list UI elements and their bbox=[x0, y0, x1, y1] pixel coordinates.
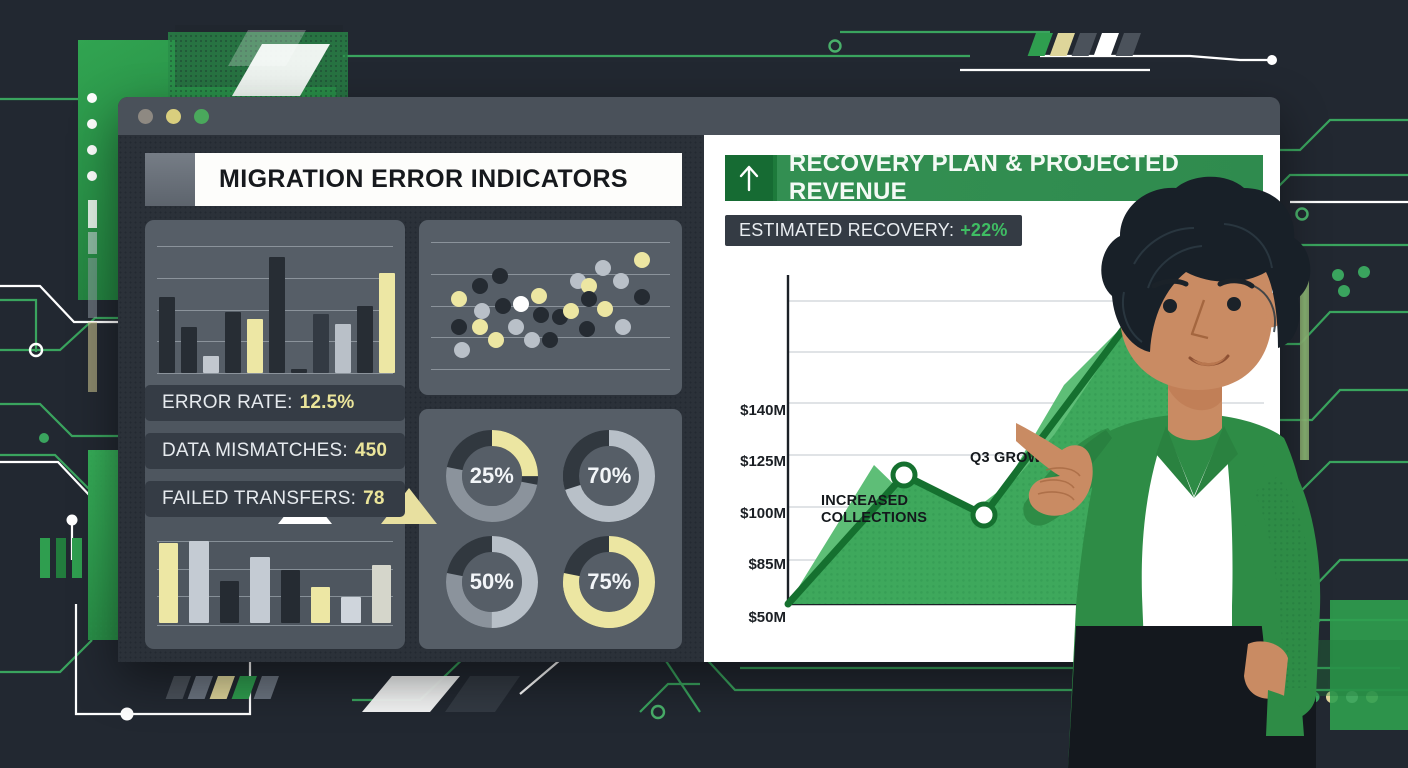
scatter-point bbox=[513, 296, 529, 312]
donut-label: 25% bbox=[470, 463, 514, 489]
scatter-point bbox=[472, 278, 488, 294]
donut-gauges[interactable]: 25%70%50%75% bbox=[419, 409, 682, 649]
annotation-line-1: INCREASED bbox=[821, 493, 927, 510]
stat-value: 12.5% bbox=[300, 392, 355, 414]
error-stats-list: ERROR RATE: 12.5% DATA MISMATCHES: 450 F… bbox=[145, 385, 405, 529]
scatter-point bbox=[595, 260, 611, 276]
bar bbox=[159, 297, 175, 373]
scatter-point bbox=[495, 298, 511, 314]
scatter-point bbox=[613, 273, 629, 289]
bar bbox=[181, 327, 197, 373]
left-panel-header: MIGRATION ERROR INDICATORS bbox=[145, 153, 682, 206]
scatter-point bbox=[488, 332, 504, 348]
scatter-point bbox=[563, 303, 579, 319]
scatter-point bbox=[474, 303, 490, 319]
scatter-chart[interactable] bbox=[419, 220, 682, 395]
bar bbox=[269, 257, 285, 373]
header-accent-tab bbox=[145, 153, 195, 206]
scatter-point bbox=[615, 319, 631, 335]
scatter-point bbox=[508, 319, 524, 335]
scatter-point bbox=[454, 342, 470, 358]
window-maximize-dot[interactable] bbox=[194, 109, 209, 124]
donut-gauge[interactable]: 25% bbox=[433, 423, 551, 529]
stat-value: 78 bbox=[363, 488, 385, 510]
bar bbox=[225, 312, 241, 373]
donut-gauge[interactable]: 75% bbox=[551, 529, 669, 635]
scatter-point bbox=[533, 307, 549, 323]
scatter-point bbox=[579, 321, 595, 337]
bar bbox=[313, 314, 329, 373]
infographic-canvas: MIGRATION ERROR INDICATORS bbox=[0, 0, 1408, 768]
bar bbox=[281, 570, 300, 623]
bar bbox=[372, 565, 391, 623]
secondary-bar-series bbox=[159, 543, 391, 623]
donut-gauge[interactable]: 70% bbox=[551, 423, 669, 529]
ytick-label: $140M bbox=[716, 402, 786, 419]
ytick-label: $50M bbox=[716, 609, 786, 626]
bar bbox=[203, 356, 219, 373]
scatter-point bbox=[472, 319, 488, 335]
bar bbox=[379, 273, 395, 373]
bar bbox=[220, 581, 239, 623]
stat-label: FAILED TRANSFERS: bbox=[162, 488, 356, 510]
ytick-label: $100M bbox=[716, 505, 786, 522]
migration-error-panel: MIGRATION ERROR INDICATORS bbox=[118, 135, 704, 662]
bar bbox=[311, 587, 330, 623]
scatter-point bbox=[581, 291, 597, 307]
page-title: MIGRATION ERROR INDICATORS bbox=[195, 153, 682, 206]
donut-label: 70% bbox=[587, 463, 631, 489]
donut-gauge[interactable]: 50% bbox=[433, 529, 551, 635]
decorative-dark-notch bbox=[175, 25, 343, 87]
scatter-point bbox=[597, 301, 613, 317]
donut-label: 75% bbox=[587, 569, 631, 595]
bar bbox=[189, 541, 208, 623]
scatter-points bbox=[419, 220, 682, 395]
stat-label: DATA MISMATCHES: bbox=[162, 440, 348, 462]
presenter-illustration bbox=[1016, 176, 1408, 768]
bar bbox=[250, 557, 269, 623]
stat-label: ERROR RATE: bbox=[162, 392, 293, 414]
stat-data-mismatches[interactable]: DATA MISMATCHES: 450 bbox=[145, 433, 405, 469]
window-titlebar bbox=[118, 97, 1280, 135]
bar bbox=[291, 369, 307, 373]
scatter-point bbox=[451, 291, 467, 307]
stat-error-rate[interactable]: ERROR RATE: 12.5% bbox=[145, 385, 405, 421]
ytick-label: $125M bbox=[716, 453, 786, 470]
scatter-point bbox=[542, 332, 558, 348]
ytick-label: $85M bbox=[716, 556, 786, 573]
donut-label: 50% bbox=[470, 569, 514, 595]
stat-value: 450 bbox=[355, 440, 387, 462]
window-minimize-dot[interactable] bbox=[166, 109, 181, 124]
scatter-point bbox=[634, 252, 650, 268]
annotation-line-2: COLLECTIONS bbox=[821, 510, 927, 527]
bar bbox=[357, 306, 373, 373]
scatter-point bbox=[634, 289, 650, 305]
annotation-increased-collections: INCREASED COLLECTIONS bbox=[821, 493, 927, 526]
bar bbox=[247, 319, 263, 373]
scatter-point bbox=[451, 319, 467, 335]
scatter-point bbox=[524, 332, 540, 348]
scatter-point bbox=[531, 288, 547, 304]
bar-series bbox=[159, 251, 395, 373]
bar bbox=[335, 324, 351, 373]
bar bbox=[159, 543, 178, 623]
error-bar-chart[interactable] bbox=[145, 220, 405, 395]
bar bbox=[341, 597, 360, 623]
stat-failed-transfers[interactable]: FAILED TRANSFERS: 78 bbox=[145, 481, 405, 517]
donut-grid: 25%70%50%75% bbox=[433, 423, 668, 635]
window-close-dot[interactable] bbox=[138, 109, 153, 124]
scatter-point bbox=[492, 268, 508, 284]
